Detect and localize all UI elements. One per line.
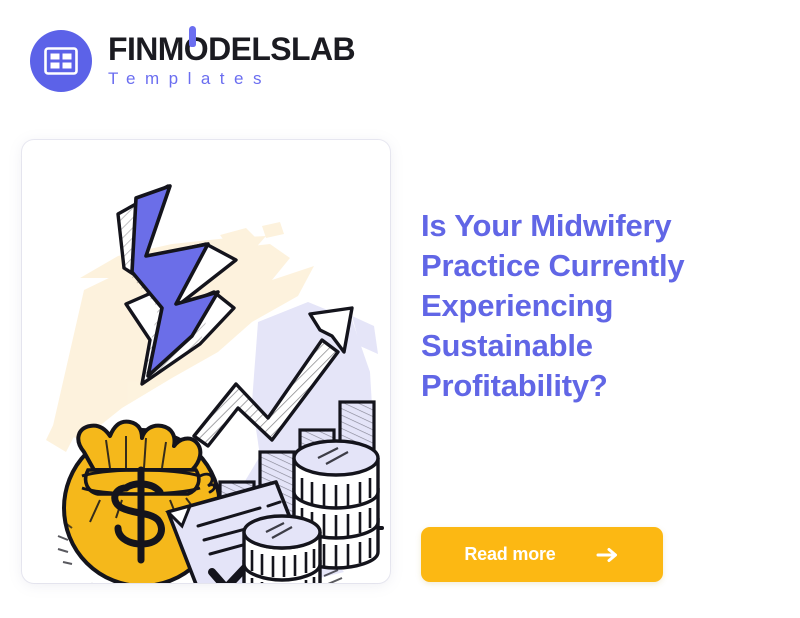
- brand-wordmark: FINMODELSLAB Templates: [108, 33, 355, 88]
- page-title: Is Your Midwifery Practice Currently Exp…: [421, 206, 751, 406]
- brand-logo[interactable]: FINMODELSLAB Templates: [30, 30, 355, 92]
- read-more-button[interactable]: Read more: [421, 527, 663, 582]
- grid-squares-icon: [30, 30, 92, 92]
- finance-illustration: [22, 140, 390, 583]
- promo-banner: FINMODELSLAB Templates: [0, 0, 800, 618]
- illustration-card: [22, 140, 390, 583]
- water-drop-icon: [189, 26, 196, 47]
- arrow-right-icon: [596, 547, 620, 563]
- brand-name: FINMODELSLAB: [108, 33, 355, 66]
- brand-subtitle: Templates: [108, 70, 355, 89]
- headline-block: Is Your Midwifery Practice Currently Exp…: [421, 206, 751, 406]
- read-more-label: Read more: [464, 544, 555, 565]
- brand-name-text: FINMODELSLAB: [108, 31, 355, 67]
